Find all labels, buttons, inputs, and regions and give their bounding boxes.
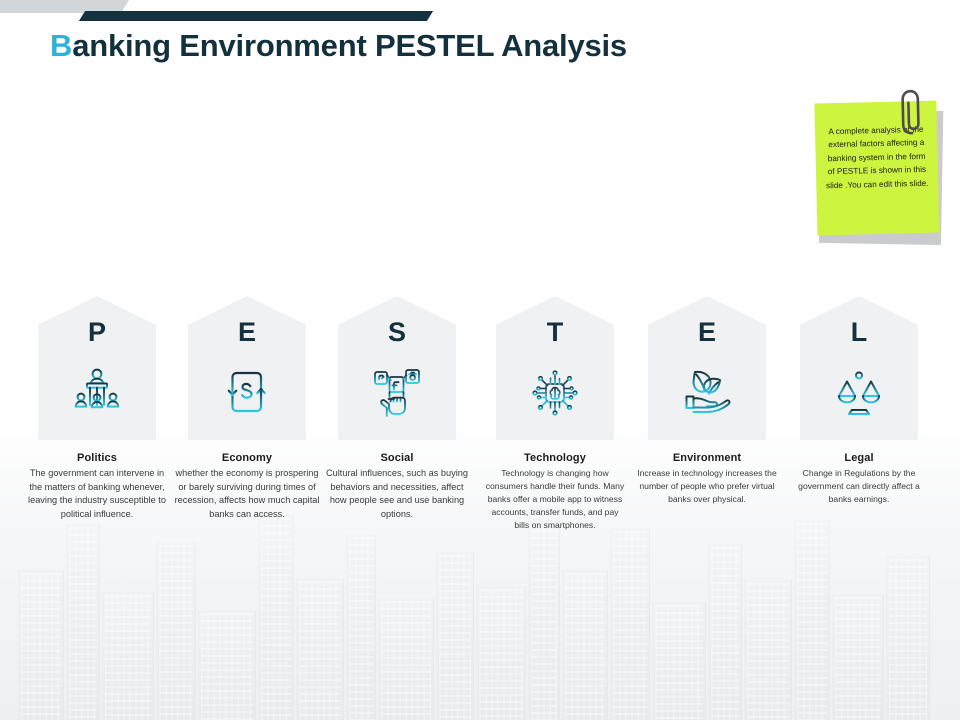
podium-speaker-audience-icon xyxy=(38,362,156,422)
column-description-economy: whether the economy is prospering or bar… xyxy=(174,467,320,521)
column-description-social: Cultural influences, such as buying beha… xyxy=(324,467,470,521)
arrow-shape-economy: E xyxy=(188,296,306,440)
column-description-environment: Increase in technology increases the num… xyxy=(637,467,777,506)
column-title-politics: Politics xyxy=(24,452,170,464)
arrow-shape-environment: E xyxy=(648,296,766,440)
pestel-columns: P xyxy=(0,0,960,720)
column-title-legal: Legal xyxy=(789,452,929,464)
column-text-economy: Economy whether the economy is prosperin… xyxy=(174,452,320,521)
column-title-technology: Technology xyxy=(485,452,625,464)
arrow-shape-technology: T xyxy=(496,296,614,440)
column-description-legal: Change in Regulations by the government … xyxy=(789,467,929,506)
dollar-cycle-arrows-icon xyxy=(188,362,306,422)
column-title-environment: Environment xyxy=(637,452,777,464)
column-title-social: Social xyxy=(324,452,470,464)
scales-of-justice-icon xyxy=(800,362,918,422)
column-text-technology: Technology Technology is changing how co… xyxy=(485,452,625,532)
arrow-shape-social: S xyxy=(338,296,456,440)
arrow-letter-t: T xyxy=(496,319,614,346)
hand-holding-leaves-icon xyxy=(648,362,766,422)
pestel-column-legal[interactable]: L xyxy=(800,296,918,440)
pestel-column-economy[interactable]: E xyxy=(188,296,306,440)
pestel-column-social[interactable]: S xyxy=(338,296,456,440)
slide-canvas: Banking Environment PESTEL Analysis A co… xyxy=(0,0,960,720)
column-description-technology: Technology is changing how consumers han… xyxy=(485,467,625,532)
arrow-letter-e2: E xyxy=(648,319,766,346)
column-description-politics: The government can intervene in the matt… xyxy=(24,467,170,521)
arrow-shape-legal: L xyxy=(800,296,918,440)
arrow-letter-s: S xyxy=(338,319,456,346)
column-text-social: Social Cultural influences, such as buyi… xyxy=(324,452,470,521)
brain-circuit-chip-icon xyxy=(496,362,614,422)
column-title-economy: Economy xyxy=(174,452,320,464)
pestel-column-environment[interactable]: E xyxy=(648,296,766,440)
arrow-letter-p: P xyxy=(38,319,156,346)
column-text-politics: Politics The government can intervene in… xyxy=(24,452,170,521)
column-text-legal: Legal Change in Regulations by the gover… xyxy=(789,452,929,506)
pestel-column-technology[interactable]: T xyxy=(496,296,614,440)
hand-social-media-icon xyxy=(338,362,456,422)
column-text-environment: Environment Increase in technology incre… xyxy=(637,452,777,506)
arrow-letter-l: L xyxy=(800,319,918,346)
arrow-shape-politics: P xyxy=(38,296,156,440)
arrow-letter-e1: E xyxy=(188,319,306,346)
pestel-column-politics[interactable]: P xyxy=(38,296,156,440)
